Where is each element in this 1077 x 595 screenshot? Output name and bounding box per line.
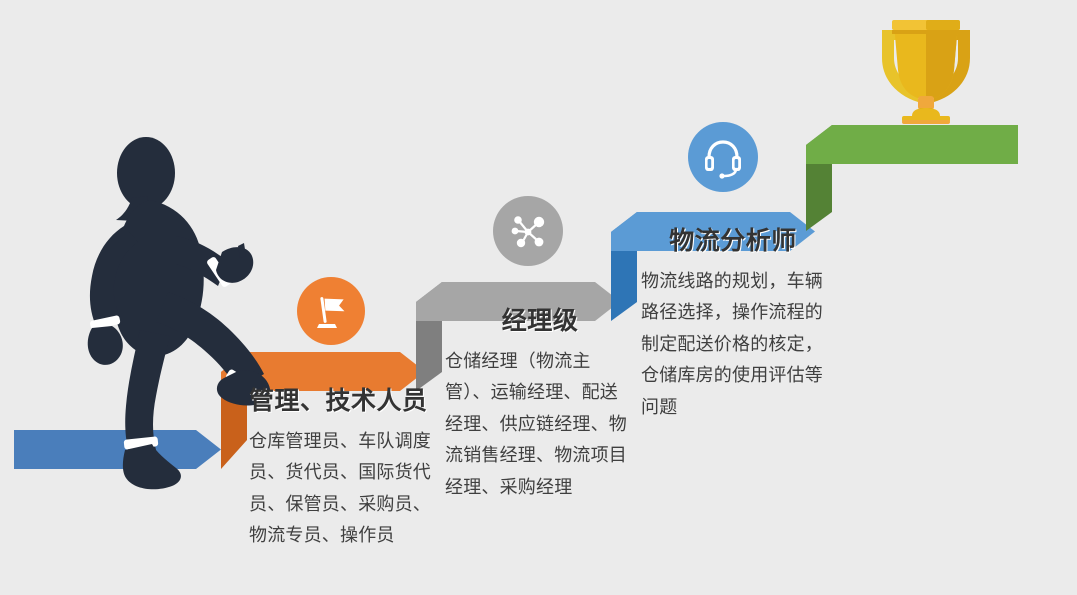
badge-headset: [688, 122, 758, 192]
badge-flag: [297, 277, 365, 345]
step-1-text: 管理、技术人员 仓库管理员、车队调度员、货代员、国际货代员、保管员、采购员、物流…: [249, 388, 439, 552]
step-2-heading: 经理级: [445, 308, 635, 336]
trophy-icon: [862, 8, 990, 126]
headset-icon: [701, 135, 745, 179]
step-4-green: [806, 125, 1018, 231]
infographic-canvas: 管理、技术人员 仓库管理员、车队调度员、货代员、国际货代员、保管员、采购员、物流…: [0, 0, 1077, 595]
step-1-heading: 管理、技术人员: [249, 388, 439, 416]
step-3-body: 物流线路的规划，车辆路径选择，操作流程的制定配送价格的核定，仓储库房的使用评估等…: [641, 266, 825, 424]
flag-icon: [311, 291, 351, 331]
step-3-text: 物流分析师 物流线路的规划，车辆路径选择，操作流程的制定配送价格的核定，仓储库房…: [641, 228, 825, 423]
badge-network: [493, 196, 563, 266]
network-nodes-icon: [507, 210, 549, 252]
step-base-blue: [14, 430, 230, 469]
step-2-text: 经理级 仓储经理（物流主管）、运输经理、配送经理、供应链经理、物流销售经理、物流…: [445, 308, 635, 503]
step-1-body: 仓库管理员、车队调度员、货代员、国际货代员、保管员、采购员、物流专员、操作员: [249, 426, 439, 552]
step-3-heading: 物流分析师: [641, 228, 825, 256]
step-2-body: 仓储经理（物流主管）、运输经理、配送经理、供应链经理、物流销售经理、物流项目经理…: [445, 346, 635, 504]
